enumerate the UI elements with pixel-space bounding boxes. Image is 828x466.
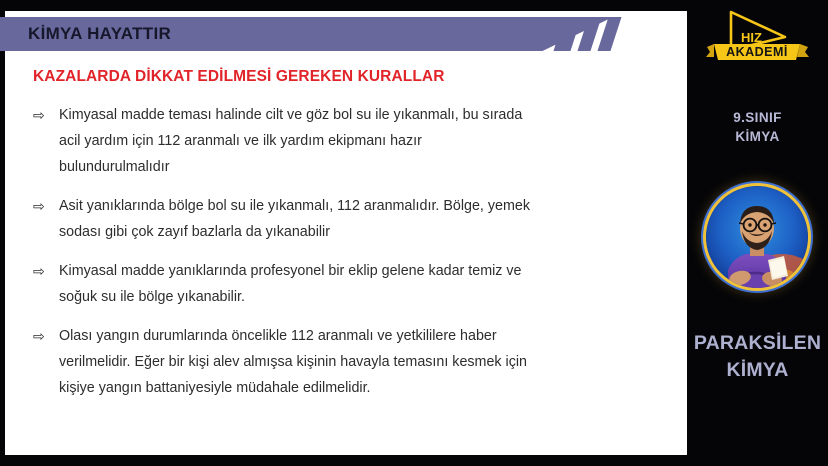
list-item-text: Kimyasal madde teması halinde cilt ve gö… [59,102,533,180]
list-item-text: Kimyasal madde yanıklarında profesyonel … [59,258,533,310]
section-heading: KAZALARDA DİKKAT EDİLMESİ GEREKEN KURALL… [33,68,533,86]
svg-text:HIZ: HIZ [741,30,762,45]
grade-line-1: 9.SINIF [687,108,828,127]
list-item-text: Olası yangın durumlarında öncelikle 112 … [59,323,533,401]
list-item-text: Asit yanıklarında bölge bol su ile yıkan… [59,193,533,245]
content-body: KAZALARDA DİKKAT EDİLMESİ GEREKEN KURALL… [33,68,533,414]
list-item: ⇨ Kimyasal madde yanıklarında profesyone… [33,258,533,310]
brand-line-2: KİMYA [683,357,828,384]
page-title: KİMYA HAYATTIR [28,17,171,51]
arrow-right-icon: ⇨ [33,258,59,284]
hiz-akademi-logo: HIZ AKADEMİ [701,4,813,62]
list-item: ⇨ Kimyasal madde teması halinde cilt ve … [33,102,533,180]
grade-line-2: KİMYA [687,127,828,146]
list-item: ⇨ Asit yanıklarında bölge bol su ile yık… [33,193,533,245]
arrow-right-icon: ⇨ [33,102,59,128]
slide-root: KİMYA HAYATTIR KAZALARDA DİKKAT EDİLMESİ… [0,0,828,466]
brand-line-1: PARAKSİLEN [683,330,828,357]
grade-label: 9.SINIF KİMYA [687,108,828,146]
brand-label: PARAKSİLEN KİMYA [683,330,828,384]
instructor-avatar [706,186,808,288]
arrow-right-icon: ⇨ [33,193,59,219]
svg-text:AKADEMİ: AKADEMİ [726,44,788,59]
list-item: ⇨ Olası yangın durumlarında öncelikle 11… [33,323,533,401]
arrow-right-icon: ⇨ [33,323,59,349]
right-sidebar: HIZ AKADEMİ 9.SINIF KİMYA [687,0,828,466]
